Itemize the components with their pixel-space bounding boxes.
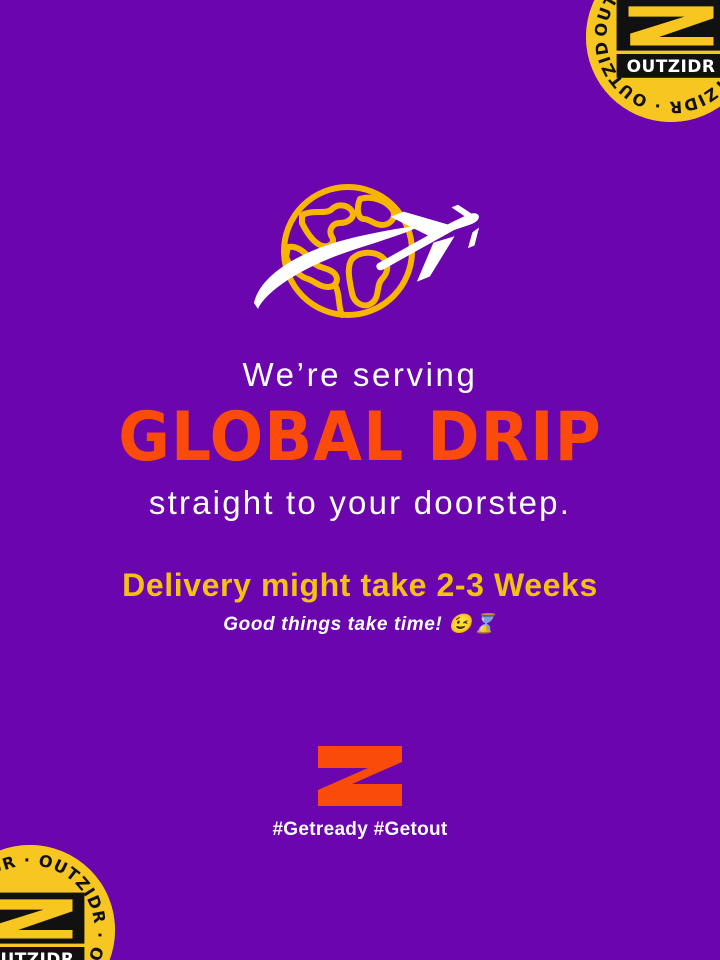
copy-block: We’re serving GLOBAL DRIP straight to yo… [0,358,720,635]
outzidr-badge-bottom-left: OUTZIDR · OUTZIDR · OUTZIDR · OUTZIDR · … [0,845,115,960]
z-logo-icon [318,746,402,806]
subhead-text: straight to your doorstep. [0,486,720,521]
tagline-text: Good things take time! 😉⌛ [0,615,720,635]
badge-z-wordmark: OUTZIDR [617,0,720,78]
delivery-notice-text: Delivery might take 2-3 Weeks [0,569,720,603]
svg-text:OUTZIDR: OUTZIDR [627,57,716,77]
headline-text: GLOBAL DRIP [0,401,720,474]
hashtags-text: #Getready #Getout [0,819,720,841]
outzidr-badge-top-right: OUTZIDR · OUTZIDR · OUTZIDR · OUTZIDR · … [586,0,720,122]
globe-airplane-illustration [0,175,720,335]
footer-block: #Getready #Getout [0,746,720,841]
svg-text:OUTZIDR: OUTZIDR [0,950,74,960]
badge-z-wordmark: OUTZIDR [0,893,84,960]
eyebrow-text: We’re serving [0,358,720,393]
poster-canvas: OUTZIDR · OUTZIDR · OUTZIDR · OUTZIDR · … [0,0,720,960]
